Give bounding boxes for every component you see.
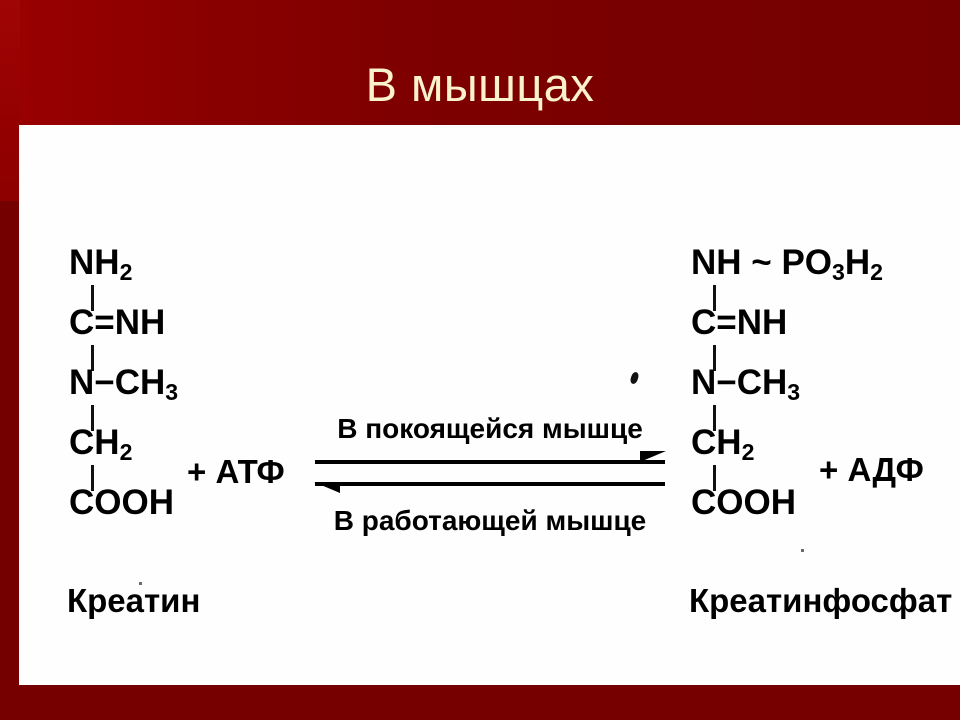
creatine-formula-nch3: N−CH3: [69, 365, 178, 400]
creatine-phosphate-formula-ch2: CH2: [691, 425, 754, 460]
left-margin-lower-band: [0, 201, 20, 720]
subscript: 3: [787, 379, 800, 405]
creatine-formula-cooh: COOH: [69, 485, 174, 520]
slide: В мышцах NH2 C=NH N−CH3 CH2 COOH: [0, 0, 960, 720]
content-panel: NH2 C=NH N−CH3 CH2 COOH Креатин + АТФ: [19, 125, 960, 685]
forward-arrow: [315, 460, 665, 464]
subscript: 3: [165, 379, 178, 405]
creatine-formula-cnh: C=NH: [69, 305, 165, 340]
equilibrium-arrows: В покоящейся мышце В работающей мышце: [307, 412, 673, 540]
creatine-phosphate-label: Креатинфосфат: [689, 584, 952, 617]
creatine-phosphate-formula-cooh: COOH: [691, 485, 796, 520]
bottom-margin-band: [0, 684, 960, 720]
creatine-formula-ch2: CH2: [69, 425, 132, 460]
creatine-phosphate-formula-cnh: C=NH: [691, 305, 787, 340]
arrowhead-left-icon: [314, 482, 340, 493]
creatine-phosphate-formula-nh-po3h2: NH ~ PO3H2: [691, 245, 883, 280]
forward-condition-label: В покоящейся мышце: [307, 412, 673, 446]
page-title: В мышцах: [0, 57, 960, 113]
subscript: 2: [870, 259, 883, 285]
creatine-formula-nh2: NH2: [69, 245, 132, 280]
scan-artifact-dot-2: [801, 549, 804, 552]
subscript: 2: [742, 439, 755, 465]
scan-artifact-speck: [629, 371, 639, 385]
creatine-label: Креатин: [67, 584, 200, 617]
reverse-arrow: [315, 482, 665, 486]
subscript: 2: [120, 259, 133, 285]
subscript: 3: [832, 259, 845, 285]
creatine-phosphate-formula-nch3: N−CH3: [691, 365, 800, 400]
reagent-adp: + АДФ: [819, 453, 924, 486]
arrowhead-right-icon: [640, 451, 666, 462]
scan-artifact-dot-1: [139, 582, 142, 585]
reagent-atp: + АТФ: [187, 455, 285, 488]
subscript: 2: [120, 439, 133, 465]
reverse-condition-label: В работающей мышце: [307, 504, 673, 538]
